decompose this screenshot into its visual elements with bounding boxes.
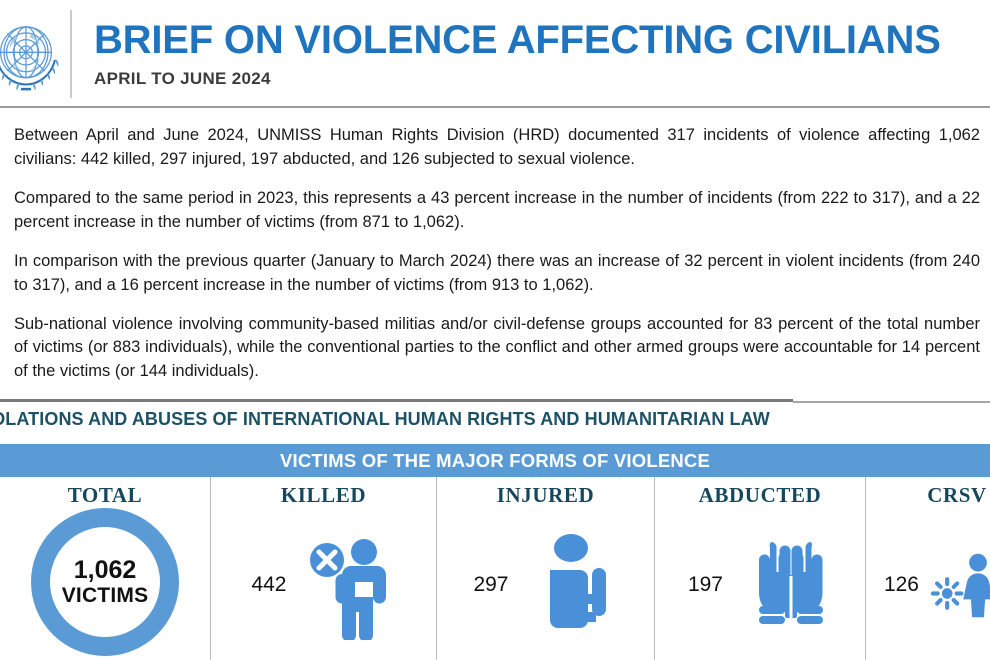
stat-card-body: 197 bbox=[655, 508, 865, 660]
title-block: BRIEF ON VIOLENCE AFFECTING CIVILIANS AP… bbox=[94, 19, 990, 89]
paragraph: Sub-national violence involving communit… bbox=[14, 313, 986, 385]
crsv-value: 126 bbox=[873, 574, 919, 595]
stat-card-killed[interactable]: KILLED 442 bbox=[211, 477, 437, 660]
total-victims-value: 1,062 bbox=[74, 557, 137, 584]
un-emblem-icon bbox=[0, 0, 70, 108]
brief-page: BRIEF ON VIOLENCE AFFECTING CIVILIANS AP… bbox=[0, 0, 990, 660]
stat-card-body: 1,062 VICTIMS bbox=[0, 508, 210, 660]
stat-card-body: 297 bbox=[437, 508, 654, 660]
section-divider-right bbox=[793, 401, 990, 403]
stat-card-injured[interactable]: INJURED 297 bbox=[437, 477, 655, 660]
section-divider bbox=[0, 399, 793, 402]
page-subtitle: APRIL TO JUNE 2024 bbox=[94, 69, 990, 89]
stat-card-body: 126 bbox=[866, 508, 990, 660]
paragraph: Between April and June 2024, UNMISS Huma… bbox=[14, 124, 986, 172]
page-title: BRIEF ON VIOLENCE AFFECTING CIVILIANS bbox=[94, 19, 990, 61]
stat-card-label: KILLED bbox=[281, 483, 366, 508]
abducted-value: 197 bbox=[677, 574, 723, 595]
summary-text: Between April and June 2024, UNMISS Huma… bbox=[0, 108, 990, 384]
injured-value: 297 bbox=[463, 574, 509, 595]
handcuffed-hands-icon bbox=[739, 536, 843, 632]
stat-card-label: ABDUCTED bbox=[699, 483, 822, 508]
stat-card-total[interactable]: TOTAL 1,062 VICTIMS bbox=[0, 477, 211, 660]
stat-card-abducted[interactable]: ABDUCTED 197 bbox=[655, 477, 866, 660]
header-divider bbox=[70, 10, 72, 98]
victims-banner-label: VICTIMS OF THE MAJOR FORMS OF VIOLENCE bbox=[280, 450, 710, 472]
stat-card-label: INJURED bbox=[497, 483, 595, 508]
header-rule bbox=[0, 106, 990, 108]
stat-card-row: TOTAL 1,062 VICTIMS KILLED 442 bbox=[0, 477, 990, 660]
person-with-cross-mark-icon bbox=[303, 528, 407, 640]
total-victims-caption: VICTIMS bbox=[62, 584, 149, 607]
killed-value: 442 bbox=[241, 574, 287, 595]
section-heading: VIOLATIONS AND ABUSES OF INTERNATIONAL H… bbox=[0, 409, 990, 430]
stat-card-crsv[interactable]: CRSV 126 bbox=[866, 477, 990, 660]
paragraph: Compared to the same period in 2023, thi… bbox=[14, 187, 986, 235]
victims-banner: VICTIMS OF THE MAJOR FORMS OF VIOLENCE bbox=[0, 444, 990, 477]
person-with-arm-sling-icon bbox=[525, 532, 629, 636]
woman-with-burst-icon bbox=[927, 528, 990, 640]
stat-card-label: CRSV bbox=[927, 483, 987, 508]
paragraph: In comparison with the previous quarter … bbox=[14, 250, 986, 298]
donut-ring-icon: 1,062 VICTIMS bbox=[31, 508, 179, 656]
page-header: BRIEF ON VIOLENCE AFFECTING CIVILIANS AP… bbox=[0, 0, 990, 108]
stat-card-label: TOTAL bbox=[68, 483, 143, 508]
stat-card-body: 442 bbox=[211, 508, 436, 660]
